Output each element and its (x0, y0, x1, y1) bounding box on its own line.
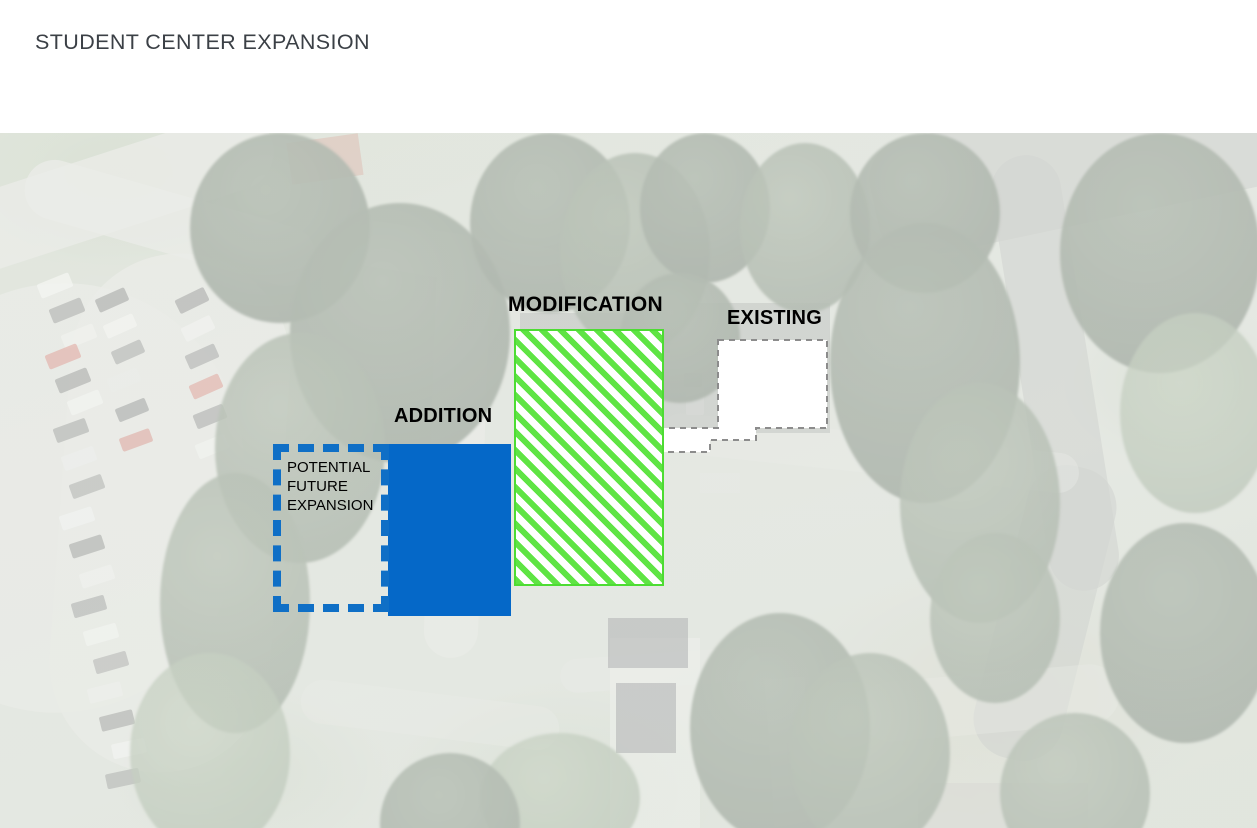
existing-label: EXISTING (727, 307, 822, 330)
aerial-map-viewport[interactable]: POTENTIAL FUTURE EXPANSION MODIFICATION … (0, 133, 1257, 828)
site-plan-overlay: POTENTIAL FUTURE EXPANSION MODIFICATION … (0, 133, 1257, 828)
page-header: STUDENT CENTER EXPANSION (0, 0, 1257, 133)
existing-building-polygon[interactable] (655, 328, 840, 468)
future-expansion-label: POTENTIAL FUTURE EXPANSION (287, 458, 373, 515)
addition-label: ADDITION (394, 405, 492, 428)
addition-area-polygon[interactable] (388, 444, 511, 616)
modification-label: MODIFICATION (508, 293, 663, 317)
site-plan-page: STUDENT CENTER EXPANSION (0, 0, 1257, 828)
modification-area-polygon[interactable] (514, 329, 664, 586)
page-title: STUDENT CENTER EXPANSION (35, 30, 370, 55)
